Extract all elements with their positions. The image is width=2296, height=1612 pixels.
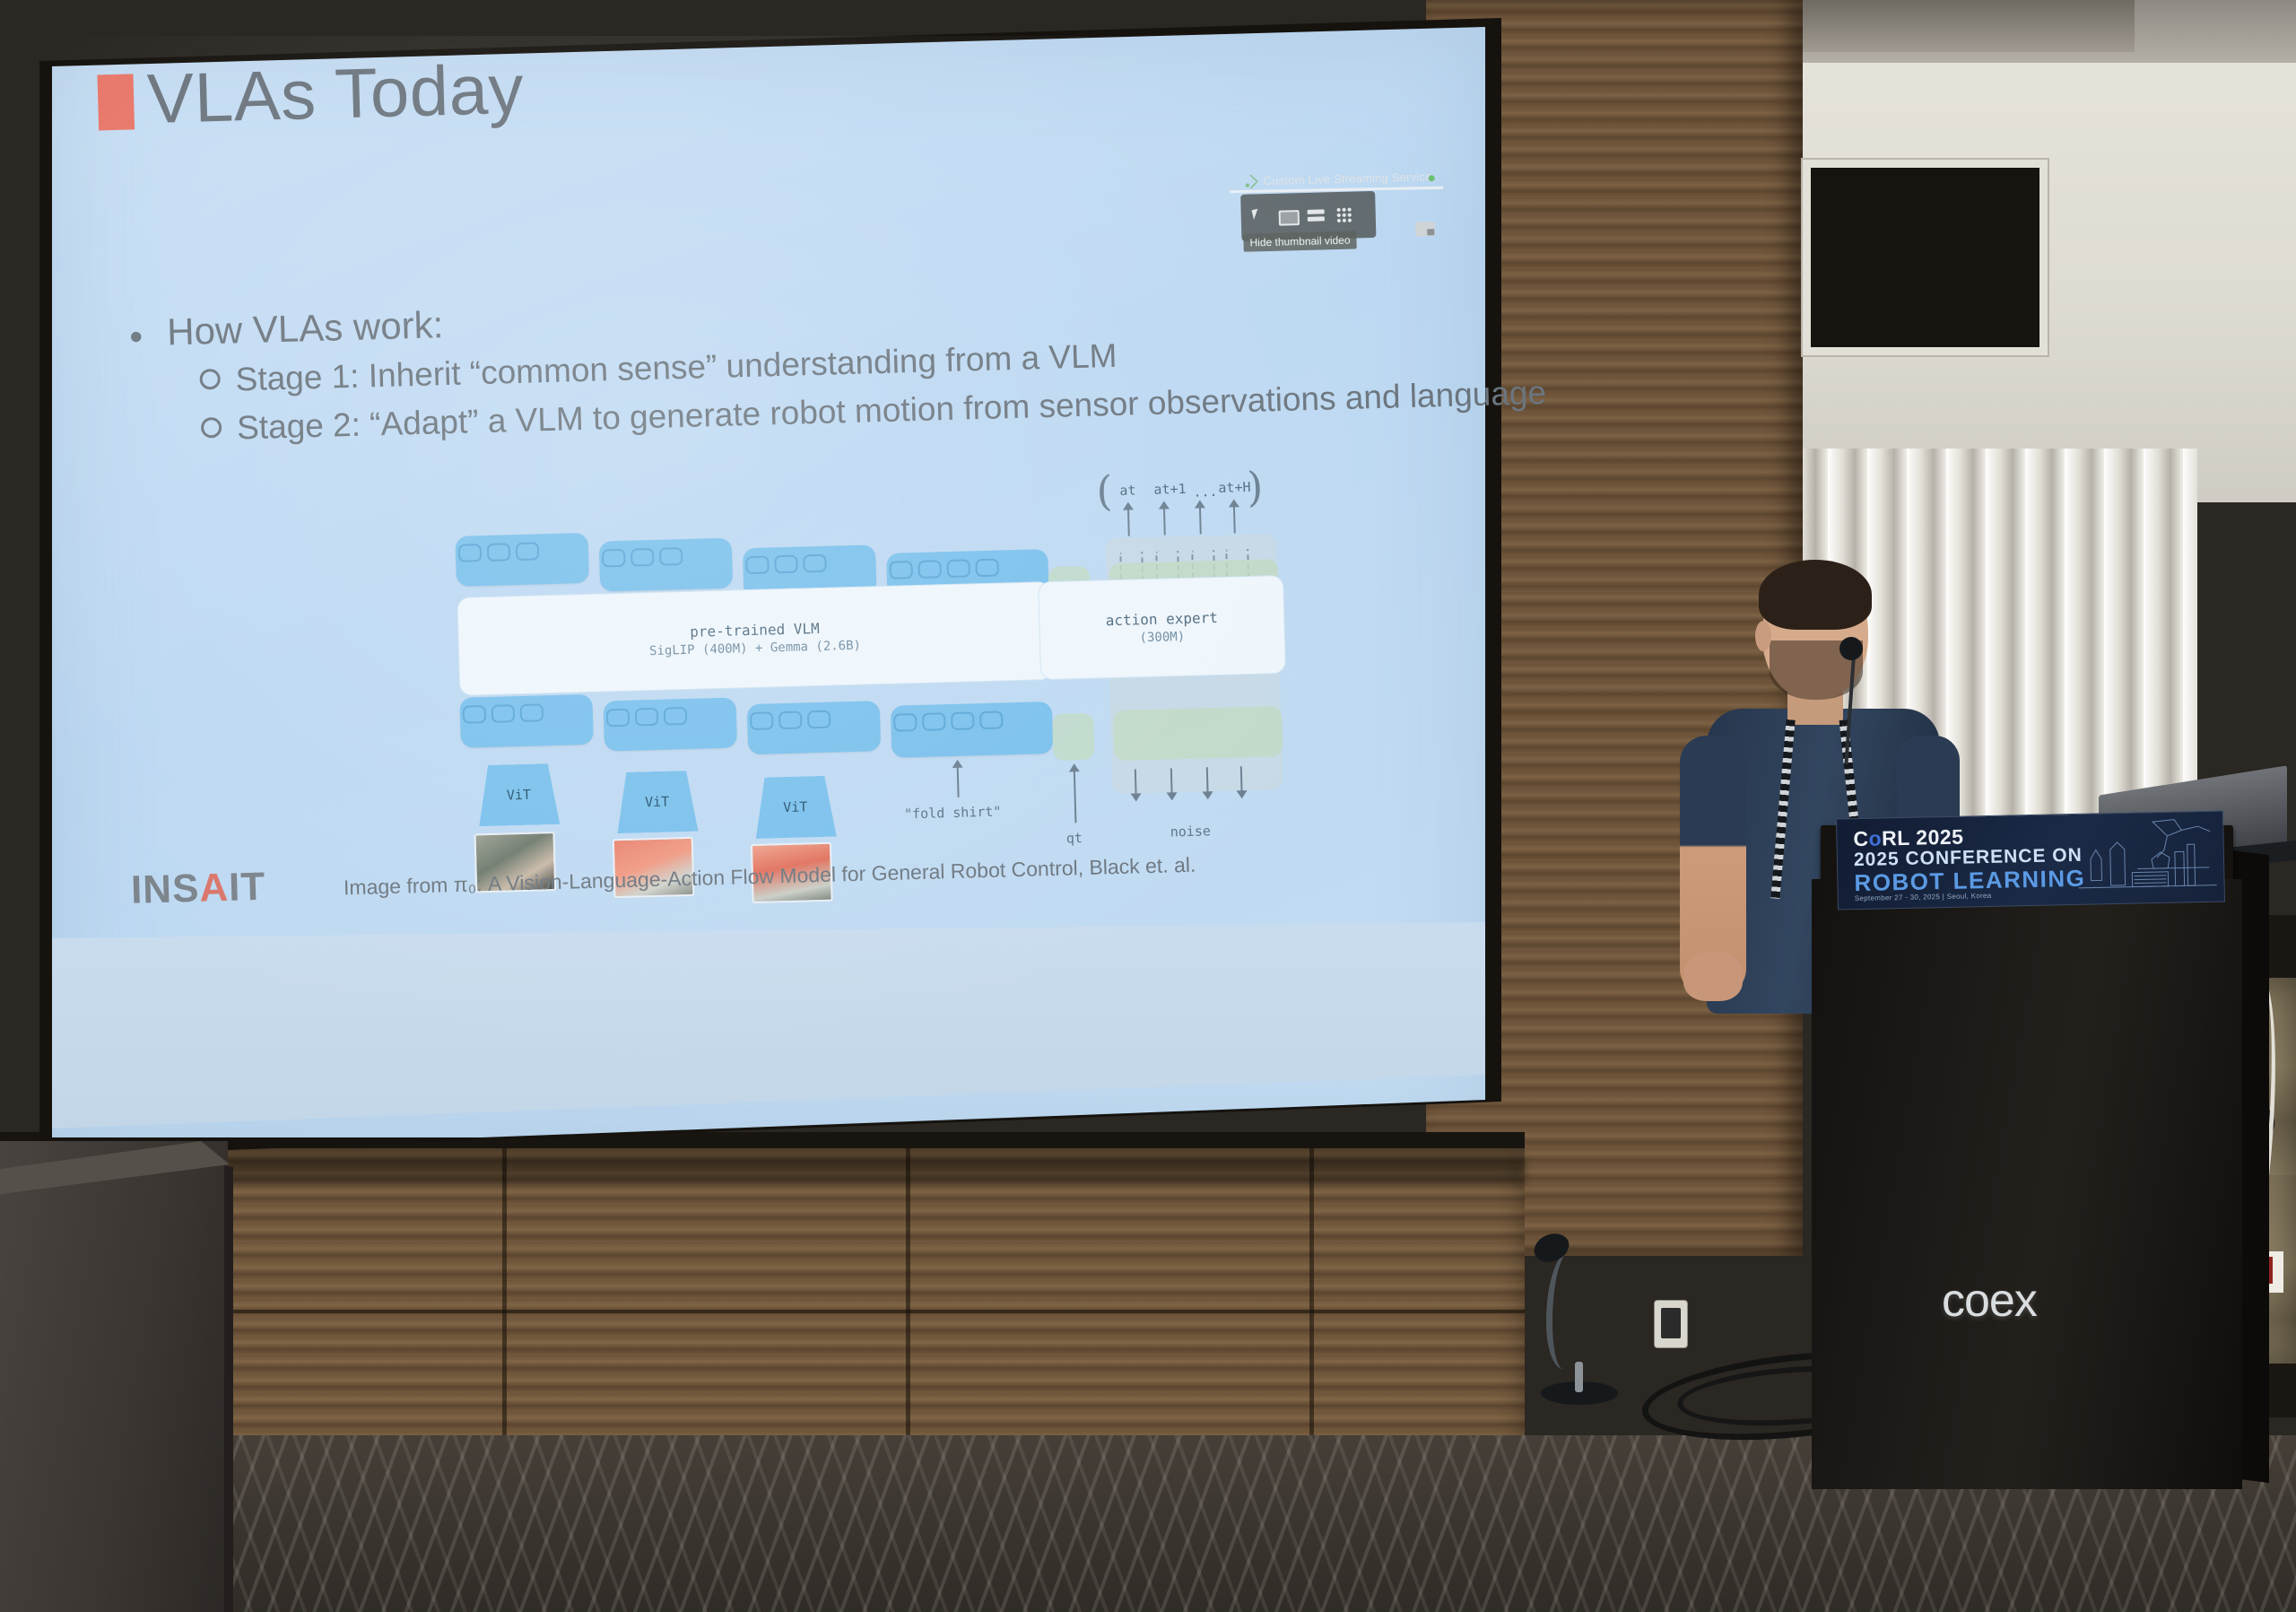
action-token-0: at bbox=[1119, 482, 1136, 498]
arrow-up-token-1 bbox=[1163, 508, 1166, 535]
bullet-marker-icon: • bbox=[129, 315, 143, 358]
presentation-slide: VLAs Today • How VLAs work: Stage 1: Inh… bbox=[47, 0, 1506, 933]
lectern-front-panel bbox=[1812, 879, 2242, 1489]
presenter-hair bbox=[1759, 560, 1872, 630]
recording-status-dot bbox=[1429, 175, 1435, 181]
token-row-img2-top bbox=[599, 538, 733, 592]
draped-table bbox=[0, 1141, 228, 1612]
vlm-subtitle: SigLIP (400M) + Gemma (2.6B) bbox=[649, 639, 861, 658]
vla-architecture-diagram: ( ) at at+1 ... at+H bbox=[455, 496, 1298, 877]
vit-encoder-2: ViT bbox=[616, 771, 699, 833]
action-token-row-bottom bbox=[1113, 706, 1283, 761]
ceiling-vent bbox=[1803, 160, 2048, 355]
banner-robot-artwork bbox=[2074, 815, 2219, 901]
corl-logo-accent: o bbox=[1868, 826, 1882, 850]
action-token-1: at+1 bbox=[1153, 481, 1187, 498]
action-token-last: at+H bbox=[1218, 479, 1251, 496]
token-row-img2-bottom bbox=[604, 697, 737, 751]
action-expert-subtitle: (300M) bbox=[1139, 630, 1185, 645]
microphone-gooseneck bbox=[1546, 1249, 1590, 1369]
projection-screen: VLAs Today • How VLAs work: Stage 1: Inh… bbox=[0, 0, 1516, 1175]
action-token-ellipsis: ... bbox=[1193, 484, 1218, 501]
corl-logo-suffix: RL 2025 bbox=[1882, 825, 1964, 850]
noise-label: noise bbox=[1170, 823, 1211, 840]
presenter-ear bbox=[1755, 621, 1771, 651]
state-token-bottom bbox=[1052, 713, 1094, 761]
logo-accent-letter: A bbox=[199, 866, 230, 911]
sub-bullet-marker-icon bbox=[199, 369, 221, 390]
banner-date-location: September 27 - 30, 2025 | Seoul, Korea bbox=[1855, 892, 1992, 902]
arrow-prompt bbox=[957, 767, 960, 797]
conference-room-photo: VLAs Today • How VLAs work: Stage 1: Inh… bbox=[0, 0, 2296, 1612]
arrow-state bbox=[1074, 771, 1077, 823]
language-prompt-label: "fold shirt" bbox=[904, 804, 1002, 823]
vit-encoder-3: ViT bbox=[754, 776, 837, 839]
coex-logo: coex bbox=[1942, 1274, 2037, 1328]
arrow-up-token-3 bbox=[1233, 506, 1236, 533]
cast-icon bbox=[1246, 176, 1257, 187]
presenter-hand bbox=[1683, 951, 1743, 1001]
token-row-img1-top bbox=[456, 533, 589, 587]
arrow-up-token-2 bbox=[1199, 507, 1202, 534]
corl-logo-prefix: C bbox=[1853, 827, 1869, 850]
draped-table-edge bbox=[224, 1165, 233, 1612]
sub-bullet-marker-icon bbox=[201, 417, 222, 439]
arrow-up-token-0 bbox=[1127, 510, 1130, 536]
headset-mic-capsule bbox=[1839, 637, 1863, 660]
bullet-level1: • How VLAs work: bbox=[167, 303, 444, 353]
lectern: CoRL 2025 2025 CONFERENCE ON ROBOT LEARN… bbox=[1803, 825, 2251, 1489]
floor-microphone bbox=[1525, 1227, 1632, 1407]
pretrained-vlm-block: pre-trained VLM SigLIP (400M) + Gemma (2… bbox=[457, 581, 1053, 696]
action-expert-block: action expert (300M) bbox=[1038, 575, 1286, 680]
action-expert-title: action expert bbox=[1105, 609, 1218, 629]
hide-thumbnail-tooltip: Hide thumbnail video bbox=[1243, 231, 1357, 251]
bracket-left: ( bbox=[1096, 466, 1113, 515]
slide-title: VLAs Today bbox=[146, 48, 525, 140]
vit-encoder-1: ViT bbox=[477, 763, 560, 826]
insait-logo: INSAIT bbox=[130, 865, 266, 913]
bullet-level1-text: How VLAs work: bbox=[167, 303, 444, 353]
logo-suffix: IT bbox=[229, 865, 266, 910]
logo-prefix: INS bbox=[130, 867, 200, 912]
thumbnail-icon[interactable] bbox=[1415, 222, 1435, 237]
slide-accent-square bbox=[97, 74, 135, 130]
rectangle-icon[interactable] bbox=[1279, 210, 1300, 226]
token-row-img3-bottom bbox=[747, 701, 881, 754]
grid-view-icon[interactable] bbox=[1336, 207, 1352, 223]
split-view-icon[interactable] bbox=[1308, 209, 1325, 221]
cursor-icon[interactable] bbox=[1250, 208, 1268, 225]
corl-banner: CoRL 2025 2025 CONFERENCE ON ROBOT LEARN… bbox=[1836, 810, 2225, 910]
token-row-img1-bottom bbox=[459, 694, 593, 748]
live-streaming-overlay[interactable]: Custom Live Streaming Service Hide thumb… bbox=[1230, 170, 1446, 278]
token-row-text-bottom bbox=[891, 701, 1054, 758]
vlm-title: pre-trained VLM bbox=[690, 620, 820, 640]
state-label: qt bbox=[1066, 830, 1083, 846]
wall-outlet bbox=[1655, 1301, 1687, 1347]
